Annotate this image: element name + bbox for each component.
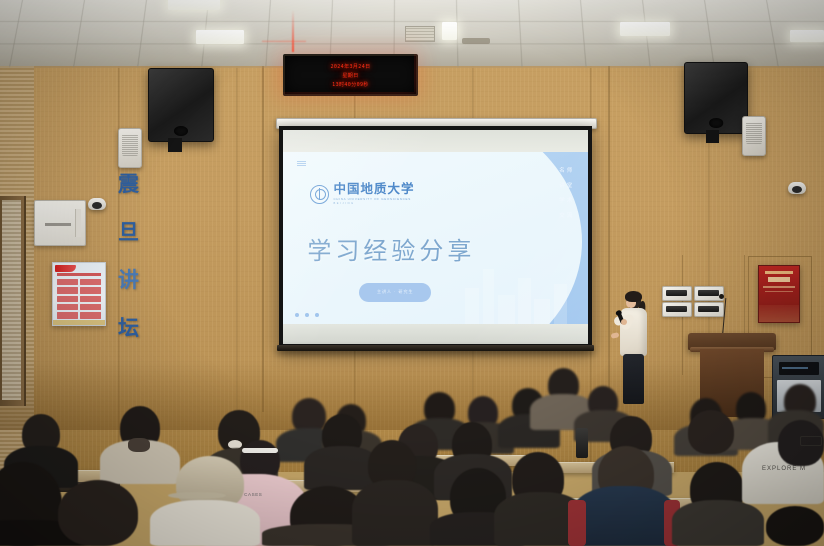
audience-hair-detail	[128, 438, 150, 452]
projection-screen-surface: 中国地质大学 CHINA UNIVERSITY OF GEOSCIENCES B…	[283, 130, 588, 344]
presenter-hand-gesture	[611, 332, 620, 339]
presentation-slide: 中国地质大学 CHINA UNIVERSITY OF GEOSCIENCES B…	[283, 152, 588, 324]
dome-security-camera	[88, 198, 106, 210]
slide-side-text-1: 名师	[559, 166, 574, 174]
av-monitor-screen	[779, 362, 819, 375]
wall-control-box[interactable]	[34, 200, 86, 246]
university-seal-icon	[310, 185, 329, 204]
wall-calligraphy: 震 旦 讲 坛	[118, 168, 139, 342]
notice-poster	[52, 262, 106, 326]
microphone-head	[719, 294, 724, 299]
ceiling-light-panel	[790, 30, 824, 42]
wall-seam	[262, 52, 264, 412]
cap-brim	[168, 492, 226, 499]
hoodie-accent	[568, 500, 586, 546]
door-blinds	[2, 200, 21, 400]
speaker-mount-bracket	[706, 130, 719, 143]
calligraphy-char-3: 讲	[118, 264, 139, 294]
lecture-hall-photo: 2024年3月24日 星期日 13时40分09秒 震 旦 讲 坛	[0, 0, 824, 546]
university-logo: 中国地质大学 CHINA UNIVERSITY OF GEOSCIENCES B…	[310, 183, 414, 206]
ceiling-recess	[462, 38, 490, 44]
poster-header-banner	[55, 265, 76, 272]
slide-corner-mark	[297, 161, 306, 166]
poster-title-bar	[57, 273, 101, 276]
led-line-time: 13时40分09秒	[285, 81, 416, 88]
screen-blank-top	[283, 130, 588, 152]
led-line-weekday: 星期日	[285, 72, 416, 79]
ceiling-light-panel	[442, 22, 457, 40]
university-name-en2: BEIJING	[333, 202, 414, 205]
wall-speaker-small-left	[118, 128, 142, 168]
audience-shoulders	[352, 480, 438, 546]
slide-side-text-4: 交流	[559, 211, 574, 219]
slide-presenter-label: 主讲人 · 研究生	[377, 289, 414, 295]
slide-side-text-2: 讲堂	[559, 181, 574, 189]
headband	[242, 448, 278, 453]
slide-dot-indicators	[295, 313, 319, 317]
poster-content-rows	[57, 279, 102, 319]
eyeglasses	[800, 436, 822, 446]
wall-speaker-left	[148, 68, 214, 142]
ceiling-light-panel	[196, 30, 244, 44]
wall-seam	[608, 52, 610, 412]
av-wall-panel[interactable]	[662, 302, 692, 317]
audience-head	[688, 410, 734, 454]
speaker-mount-bracket	[168, 138, 182, 152]
calligraphy-char-2: 旦	[118, 216, 139, 246]
water-bottle	[576, 428, 588, 458]
led-line-date: 2024年3月24日	[285, 63, 416, 70]
audience-head	[766, 506, 824, 546]
audience-head	[58, 480, 138, 546]
calligraphy-char-4: 坛	[118, 312, 139, 342]
calligraphy-char-1: 震	[118, 168, 139, 198]
jacket-text-line-2: EXPLORE M	[762, 466, 806, 472]
university-name-en: CHINA UNIVERSITY OF GEOSCIENCES	[333, 197, 414, 201]
presenter-hand	[621, 319, 627, 325]
poster-footer	[53, 320, 105, 325]
slide-side-text-3: 学术	[559, 196, 574, 204]
ceiling-light-panel	[168, 0, 220, 10]
av-wall-panel[interactable]	[694, 302, 724, 317]
av-wall-panel[interactable]	[662, 286, 692, 301]
presenter-trousers	[623, 354, 644, 404]
university-name-cn: 中国地质大学	[333, 183, 414, 196]
dome-security-camera	[788, 182, 806, 194]
presenter-hair	[625, 291, 642, 302]
laser-beam	[262, 40, 306, 42]
slide-presenter-pill: 主讲人 · 研究生	[359, 283, 431, 302]
ceiling-light-panel	[620, 22, 670, 36]
audience-shoulders	[672, 500, 764, 546]
wall-speaker-small-right	[742, 116, 766, 156]
slide-skyline-graphic	[460, 252, 582, 324]
wall-speaker-right	[684, 62, 748, 134]
audience-hoodie	[572, 486, 676, 546]
screen-blank-bottom	[283, 324, 588, 344]
projection-screen-weight-bar	[277, 345, 594, 351]
slide-title: 学习经验分享	[307, 231, 475, 266]
air-vent	[405, 26, 435, 42]
audience-shoulders	[150, 500, 260, 546]
led-marquee-display: 2024年3月24日 星期日 13时40分09秒	[283, 54, 418, 96]
speaker-presenter	[612, 292, 654, 404]
laser-beam	[292, 10, 294, 52]
slide-side-text: 名师 讲堂 学术 交流	[559, 166, 574, 219]
